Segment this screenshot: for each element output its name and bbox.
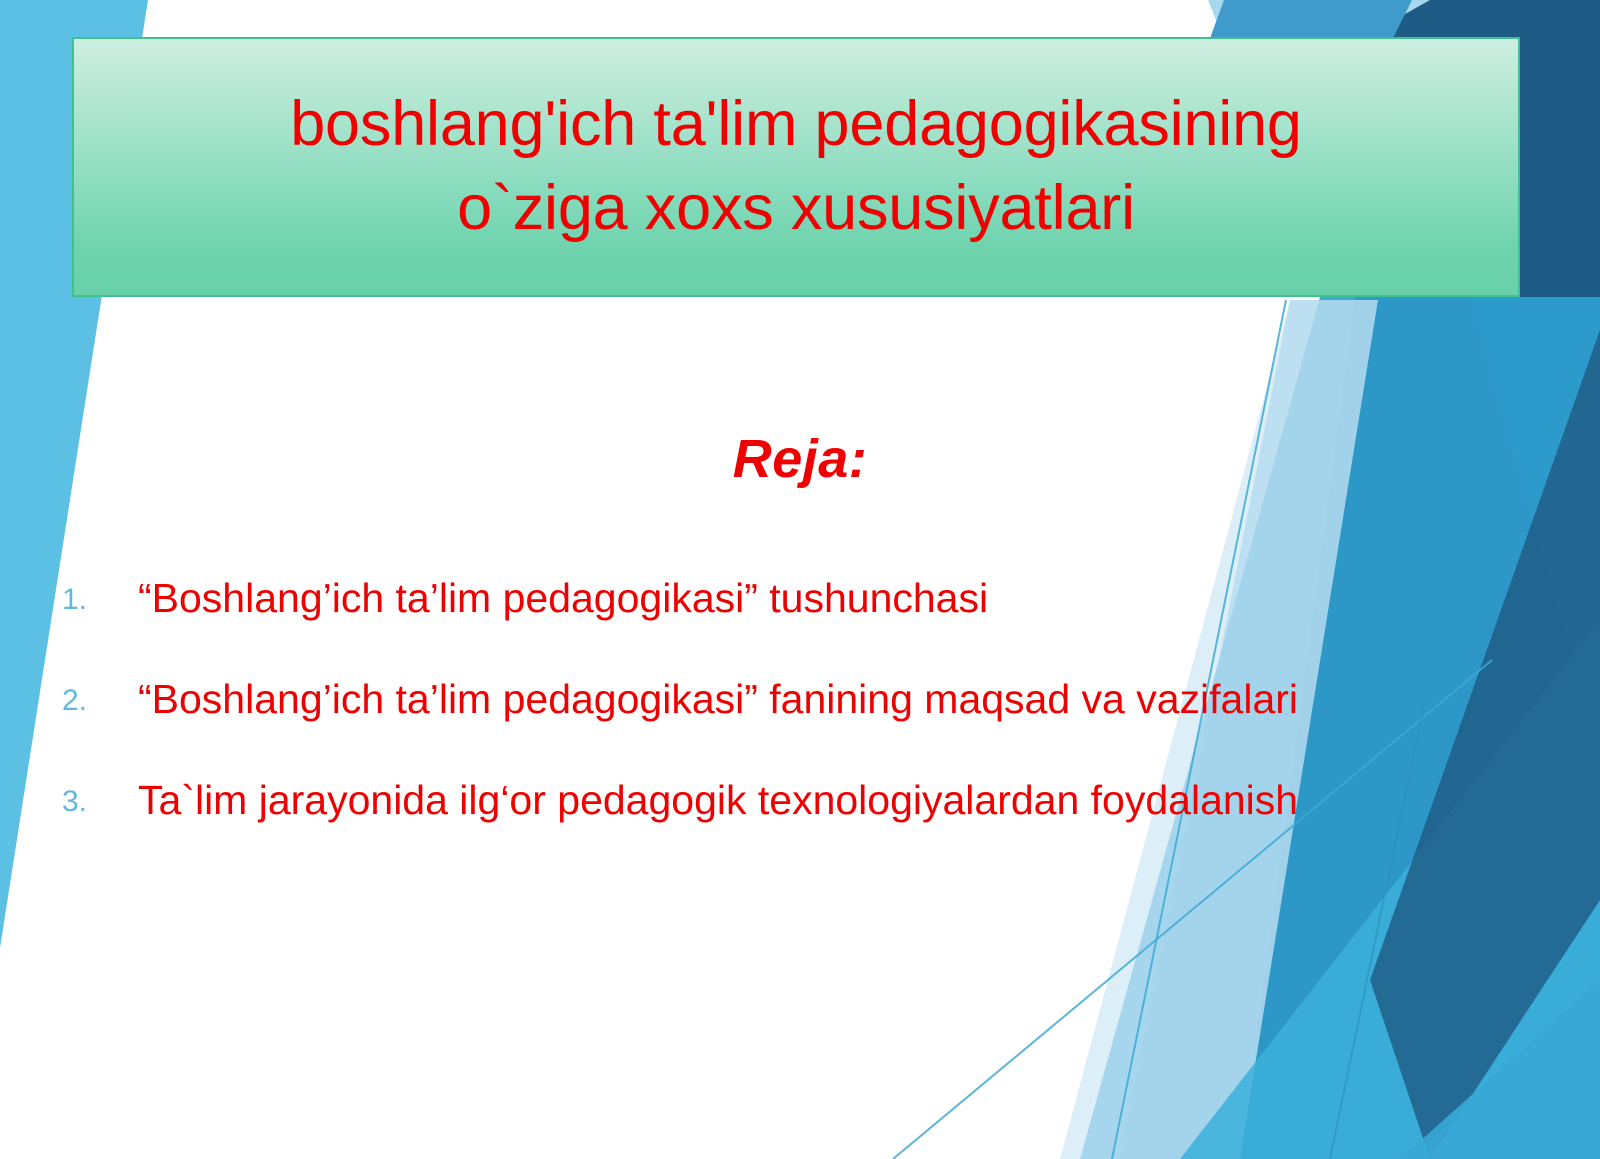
list-item-number: 2.	[62, 686, 118, 716]
presentation-slide: boshlang'ich ta'lim pedagogikasining o`z…	[0, 0, 1600, 1159]
slide-title: boshlang'ich ta'lim pedagogikasining o`z…	[270, 83, 1322, 251]
plan-heading: Reja:	[0, 428, 1600, 490]
slide-title-banner: boshlang'ich ta'lim pedagogikasining o`z…	[72, 37, 1520, 297]
list-item-label: Ta`lim jarayonida ilg‘or pedagogik texno…	[138, 778, 1298, 823]
list-item-number: 1.	[62, 585, 118, 615]
list-item: 2. “Boshlang’ich ta’lim pedagogikasi” fa…	[0, 649, 1600, 750]
plan-list: 1. “Boshlang’ich ta’lim pedagogikasi” tu…	[0, 548, 1600, 851]
list-item-number: 3.	[62, 787, 118, 817]
list-item-label: “Boshlang’ich ta’lim pedagogikasi” fanin…	[138, 677, 1298, 722]
list-item: 1. “Boshlang’ich ta’lim pedagogikasi” tu…	[0, 548, 1600, 649]
list-item-label: “Boshlang’ich ta’lim pedagogikasi” tushu…	[138, 576, 988, 621]
list-item: 3. Ta`lim jarayonida ilg‘or pedagogik te…	[0, 750, 1600, 851]
